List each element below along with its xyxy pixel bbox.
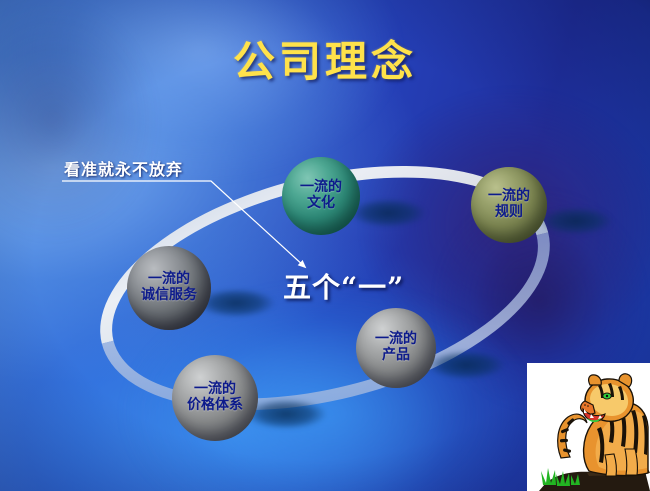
tiger-illustration-icon [527, 363, 650, 491]
center-label: 五个“一” [283, 266, 404, 306]
tiger-image-panel [527, 363, 650, 491]
slide-canvas: 公司理念 一流的 文化 [0, 0, 650, 491]
